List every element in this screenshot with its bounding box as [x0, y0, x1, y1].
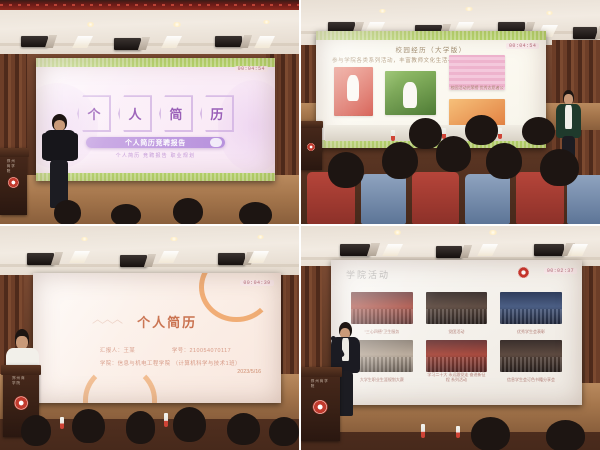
- downlight-icon: [394, 230, 401, 234]
- downlight-icon: [489, 230, 496, 234]
- photo-thumb: [426, 340, 488, 372]
- ceiling-speaker-icon: [215, 36, 242, 48]
- audience-head: [486, 143, 522, 179]
- lectern-text: 郑州商学院: [311, 379, 330, 389]
- lectern-top: [0, 148, 29, 157]
- slide-photo-grid: “三心四德”卫生服务 党团活动 优秀学生会表彰 大学生职业生涯规划大赛 学习二十…: [351, 292, 562, 382]
- audience-row: [301, 410, 600, 450]
- audience-head: [546, 420, 585, 450]
- school-crest-icon: [8, 177, 18, 187]
- hex-glyph: 简: [159, 95, 193, 132]
- presenter-arm: [71, 133, 77, 160]
- panel-top-right: 校园经历（大学版） 参与学院各类系列活动，丰富教师文化生活—— 院文体部“青春活…: [301, 0, 600, 224]
- slide-student-id: 学号：210054070117: [172, 346, 231, 354]
- ceiling-speaker-icon: [120, 255, 147, 267]
- timer-badge: 00:04:54: [506, 43, 539, 49]
- audience-head: [227, 413, 260, 444]
- slide-photo: 党团活动: [426, 292, 488, 334]
- audience-head: [111, 204, 141, 224]
- slide-photo: 院学工部迎新晚会文化生活: [385, 71, 436, 115]
- downlight-icon: [465, 7, 472, 11]
- audience-head: [173, 407, 206, 442]
- presenter-face: [16, 336, 27, 349]
- water-bottle: [421, 424, 425, 438]
- photo-thumb: [351, 292, 413, 324]
- audience-head: [173, 198, 203, 224]
- timer-badge: 00:04:54: [235, 66, 268, 72]
- downlight-icon: [87, 22, 94, 26]
- slide-date: 2023/5/16: [237, 369, 261, 375]
- ceiling-speaker-icon: [218, 253, 245, 265]
- slide-title: 学院活动: [346, 268, 390, 281]
- presenter-shirt: [565, 105, 571, 129]
- banner-knob: [210, 138, 222, 146]
- audience-head: [126, 411, 156, 443]
- slide-photo: 信息学生会订色书籍分享会: [500, 340, 562, 382]
- presenter-shirt: [342, 338, 349, 361]
- timer-badge: 00:04:39: [240, 280, 273, 286]
- audience-head: [471, 417, 510, 450]
- slide-photo-caption: 党团活动: [426, 329, 488, 334]
- slide-photo-caption: 信息学生会订色书籍分享会: [500, 377, 562, 382]
- college-label: 学院：: [100, 361, 118, 367]
- audience-head: [328, 152, 364, 188]
- slide-photo-caption: 院文体部“青春活力操赛”活动: [334, 115, 373, 116]
- hex-glyph: 个: [77, 95, 111, 132]
- seat: [465, 174, 510, 224]
- slide-title: 个人简历: [137, 312, 197, 331]
- timer-value: 00:02:37: [547, 268, 574, 274]
- audience-head: [239, 202, 272, 224]
- hex-glyph: 历: [200, 95, 234, 132]
- audience-head: [72, 409, 105, 443]
- projection-screen: 个人简历 汇报人：王某 学号：210054070117 学院：信息与机电工程学院…: [33, 273, 281, 403]
- lectern-text: 郑州商学院: [7, 159, 20, 174]
- lectern-top: [301, 367, 342, 377]
- seat: [361, 174, 406, 224]
- water-bottle: [164, 413, 168, 426]
- ceiling-red-band: [0, 0, 299, 10]
- audience-head: [21, 415, 51, 446]
- slide-band-top: [316, 31, 546, 39]
- slide-college: 学院：信息与机电工程学院 （计算机科学与技术1班）: [100, 359, 241, 367]
- water-bottle: [60, 417, 64, 430]
- slide-banner-text: 个人简历竞聘报告: [125, 138, 186, 148]
- timer-value: 00:04:54: [509, 43, 536, 49]
- audience-head: [465, 115, 498, 145]
- slide-reporter: 汇报人：王某: [100, 346, 135, 354]
- audience-row: [0, 405, 299, 450]
- student-id-value: 210054070117: [190, 348, 232, 354]
- projection-screen: 学院活动 “三心四德”卫生服务 党团活动 优秀学生会表彰 大学生职业生涯规划大赛: [331, 260, 582, 406]
- ceiling-speaker-icon: [114, 38, 141, 50]
- downlight-icon: [173, 22, 180, 26]
- slide-photo-caption: 校园活动光荣榜 优秀志愿者公示栏表: [449, 85, 504, 89]
- photo-thumb: [426, 292, 488, 324]
- ceiling-speaker-icon: [27, 253, 54, 265]
- audience-row: [0, 188, 299, 224]
- lectern-top: [1, 365, 41, 375]
- audience-head: [269, 417, 299, 447]
- timer-value: 00:04:39: [243, 280, 270, 286]
- slide-hex-title: 个 人 简 历: [55, 95, 256, 132]
- seat: [412, 172, 460, 224]
- photo-thumb: [500, 340, 562, 372]
- slide-photo-caption: 优秀学生会表彰: [500, 329, 562, 334]
- ceiling-speaker-icon: [340, 244, 370, 256]
- audience-head: [540, 149, 579, 187]
- slide-wave-icon: [92, 318, 129, 326]
- slide-photo: 优秀学生会表彰: [500, 292, 562, 334]
- timer-badge: 00:02:37: [544, 268, 577, 274]
- audience-head: [522, 117, 555, 146]
- hex-glyph: 人: [118, 95, 152, 132]
- slide-banner: 个人简历竞聘报告: [86, 137, 225, 148]
- audience-head: [409, 118, 442, 148]
- reporter-value: 王某: [123, 348, 135, 354]
- timer-value: 00:04:54: [238, 66, 265, 72]
- student-id-label: 学号：: [172, 348, 190, 354]
- ceiling-speaker-icon: [436, 246, 463, 258]
- panel-top-left: 个 人 简 历 个人简历竞聘报告 个人简历 竞聘报告 职业规划 00:04:54: [0, 0, 299, 224]
- panel-bottom-left: 个人简历 汇报人：王某 学号：210054070117 学院：信息与机电工程学院…: [0, 226, 299, 450]
- ceiling-speaker-icon: [573, 27, 597, 39]
- lectern-text: 郑州商学院: [12, 376, 30, 386]
- slide-photo-caption: 学习二十大 永远跟党走 奋进新征程 系列活动: [426, 372, 488, 382]
- photo-collage-grid: 个 人 简 历 个人简历竞聘报告 个人简历 竞聘报告 职业规划 00:04:54: [0, 0, 600, 450]
- audience-head: [436, 136, 472, 172]
- photo-thumb: [500, 292, 562, 324]
- lectern-top: [301, 121, 323, 128]
- audience-seating: [301, 134, 600, 224]
- water-bottle: [456, 426, 460, 438]
- ceiling-speaker-icon: [21, 36, 48, 48]
- reporter-label: 汇报人：: [100, 348, 124, 354]
- slide-photo: 学习二十大 永远跟党走 奋进新征程 系列活动: [426, 340, 488, 382]
- audience-head: [54, 200, 81, 224]
- slide-lead: 参与学院各类系列活动，丰富教师文化生活——: [332, 56, 460, 64]
- audience-head: [382, 142, 418, 180]
- presenter-arm: [42, 133, 48, 160]
- panel-bottom-right: 学院活动 “三心四德”卫生服务 党团活动 优秀学生会表彰 大学生职业生涯规划大赛: [301, 226, 600, 450]
- ceiling-speaker-icon: [534, 244, 564, 256]
- college-value: 信息与机电工程学院 （计算机科学与技术1班）: [118, 361, 241, 367]
- slide-photo: 校园活动光荣榜 优秀志愿者公示栏表: [449, 55, 504, 90]
- slide-photo: 院文体部“青春活力操赛”活动: [334, 67, 373, 116]
